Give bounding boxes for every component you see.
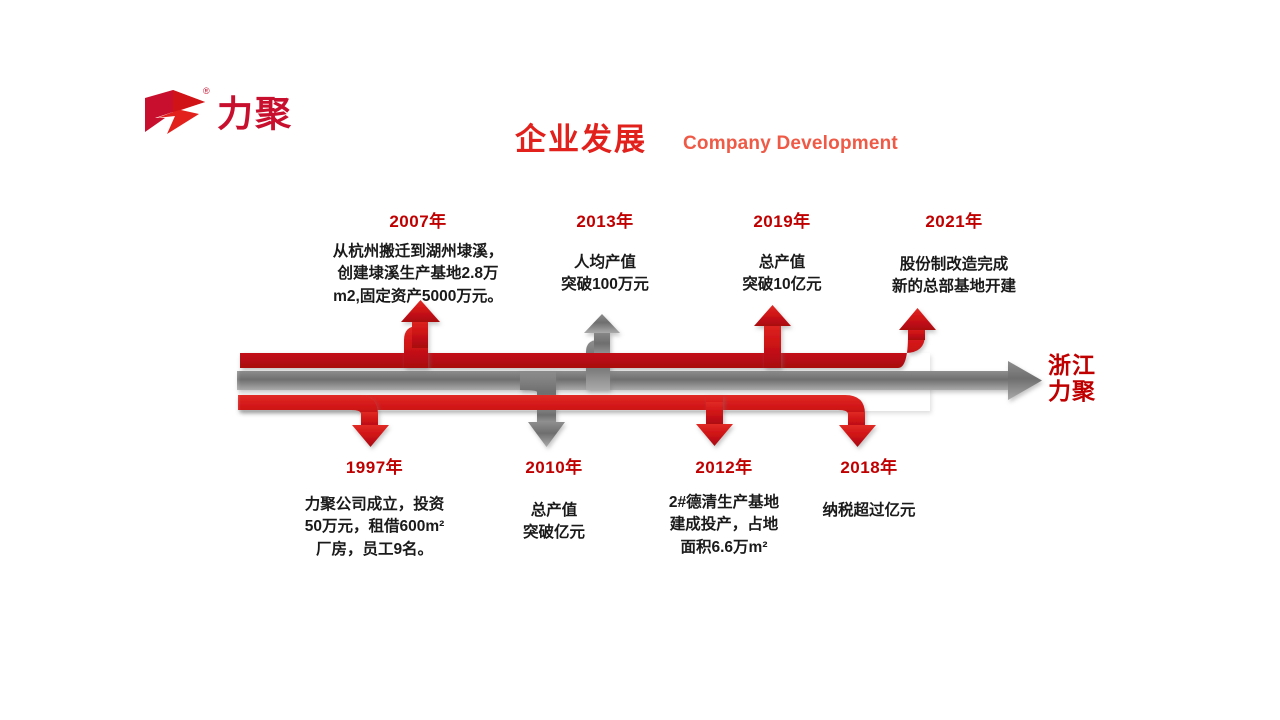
milestone-2010: 2010年 总产值 突破亿元	[477, 453, 631, 545]
milestone-line: 新的总部基地开建	[860, 276, 1048, 298]
milestone-2021: 2021年 股份制改造完成 新的总部基地开建	[860, 207, 1048, 299]
milestone-line: 面积6.6万m²	[640, 537, 808, 559]
rail-left-fade	[236, 350, 276, 414]
milestone-line: 人均产值	[527, 252, 683, 274]
milestone-line: m2,固定资产5000万元。	[302, 286, 534, 308]
end-label-line2: 力聚	[1048, 378, 1096, 404]
milestone-2007: 2007年 从杭州搬迁到湖州埭溪， 创建埭溪生产基地2.8万 m2,固定资产50…	[302, 207, 534, 308]
milestone-line: 突破100万元	[527, 274, 683, 296]
milestone-line: 纳税超过亿元	[785, 500, 953, 522]
milestone-line: 从杭州搬迁到湖州埭溪，	[302, 241, 534, 263]
milestone-line: 总产值	[477, 500, 631, 522]
slide-canvas: ® 力聚 企业发展 Company Development	[0, 0, 1280, 720]
milestone-description: 人均产值 突破100万元	[527, 252, 683, 297]
milestone-description: 总产值 突破10亿元	[700, 252, 864, 297]
end-label-line1: 浙江	[1048, 352, 1096, 378]
timeline-rail-red-top	[240, 308, 936, 368]
milestone-year: 2013年	[527, 207, 683, 232]
milestone-2019: 2019年 总产值 突破10亿元	[700, 207, 864, 297]
milestone-line: 力聚公司成立，投资	[262, 494, 487, 516]
milestone-line: 总产值	[700, 252, 864, 274]
milestone-year: 2021年	[860, 207, 1048, 232]
milestone-description: 纳税超过亿元	[785, 500, 953, 522]
milestone-2012: 2012年 2#德清生产基地 建成投产，占地 面积6.6万m²	[640, 453, 808, 559]
milestone-year: 2012年	[640, 453, 808, 478]
milestone-line: 创建埭溪生产基地2.8万	[302, 263, 534, 285]
milestone-description: 从杭州搬迁到湖州埭溪， 创建埭溪生产基地2.8万 m2,固定资产5000万元。	[302, 241, 534, 308]
milestone-line: 突破亿元	[477, 522, 631, 544]
milestone-description: 总产值 突破亿元	[477, 500, 631, 545]
milestone-description: 2#德清生产基地 建成投产，占地 面积6.6万m²	[640, 492, 808, 559]
timeline-end-label: 浙江 力聚	[1048, 352, 1096, 404]
milestone-description: 力聚公司成立，投资 50万元，租借600m² 厂房，员工9名。	[262, 494, 487, 561]
milestone-line: 2#德清生产基地	[640, 492, 808, 514]
milestone-2013: 2013年 人均产值 突破100万元	[527, 207, 683, 297]
milestone-1997: 1997年 力聚公司成立，投资 50万元，租借600m² 厂房，员工9名。	[262, 453, 487, 561]
milestone-year: 2010年	[477, 453, 631, 478]
milestone-line: 厂房，员工9名。	[262, 539, 487, 561]
milestone-year: 2019年	[700, 207, 864, 232]
milestone-year: 2007年	[302, 207, 534, 232]
milestone-line: 50万元，租借600m²	[262, 516, 487, 538]
milestone-year: 2018年	[785, 453, 953, 478]
milestone-description: 股份制改造完成 新的总部基地开建	[860, 254, 1048, 299]
milestone-line: 突破10亿元	[700, 274, 864, 296]
milestone-line: 建成投产，占地	[640, 514, 808, 536]
milestone-year: 1997年	[262, 453, 487, 478]
milestone-line: 股份制改造完成	[860, 254, 1048, 276]
milestone-2018: 2018年 纳税超过亿元	[785, 453, 953, 522]
